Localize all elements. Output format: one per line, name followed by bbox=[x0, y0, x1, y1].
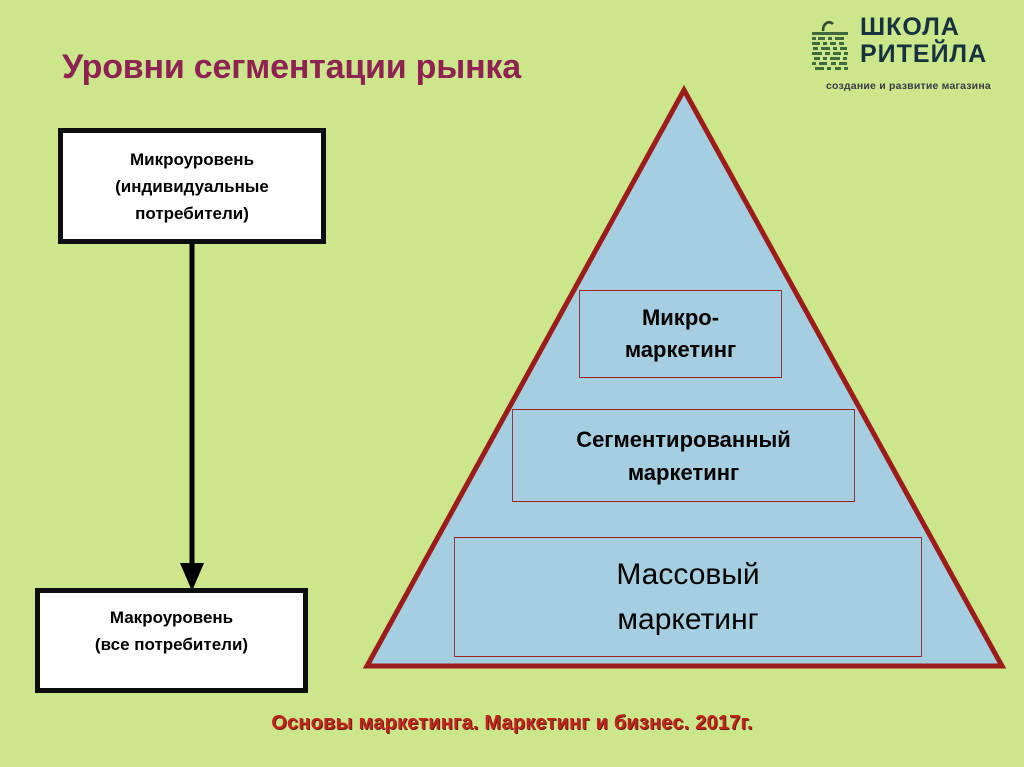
tier-segmented-line-2: маркетинг bbox=[628, 456, 739, 489]
macro-level-box: Макроуровень (все потребители) bbox=[35, 588, 308, 693]
logo-line-2: РИТЕЙЛА bbox=[860, 41, 1020, 68]
macro-level-line-1: Макроуровень bbox=[40, 604, 303, 631]
pyramid-tier-segmented-marketing: Сегментированный маркетинг bbox=[512, 409, 855, 502]
micro-level-line-2: (индивидуальные bbox=[63, 173, 321, 200]
tier-micro-line-2: маркетинг bbox=[625, 334, 736, 366]
micro-level-line-3: потребители) bbox=[63, 200, 321, 227]
micro-level-box: Микроуровень (индивидуальные потребители… bbox=[58, 128, 326, 244]
tier-mass-line-1: Массовый bbox=[616, 552, 759, 597]
shopping-bag-qr-icon bbox=[806, 18, 854, 76]
tier-mass-line-2: маркетинг bbox=[617, 597, 758, 642]
logo-wordmark: ШКОЛА РИТЕЙЛА bbox=[860, 14, 1020, 68]
tier-micro-line-1: Микро- bbox=[642, 302, 719, 334]
logo-line-1: ШКОЛА bbox=[860, 14, 1020, 41]
arrow-down-icon bbox=[175, 243, 209, 593]
tier-segmented-line-1: Сегментированный bbox=[576, 423, 791, 456]
pyramid-tier-mass-marketing: Массовый маркетинг bbox=[454, 537, 922, 657]
micro-level-line-1: Микроуровень bbox=[63, 146, 321, 173]
footer-caption: Основы маркетинга. Маркетинг и бизнес. 2… bbox=[0, 712, 1024, 735]
macro-level-line-2: (все потребители) bbox=[40, 631, 303, 658]
slide-canvas: Уровни сегментации рынка bbox=[0, 0, 1024, 767]
pyramid-tier-micro-marketing: Микро- маркетинг bbox=[579, 290, 782, 378]
